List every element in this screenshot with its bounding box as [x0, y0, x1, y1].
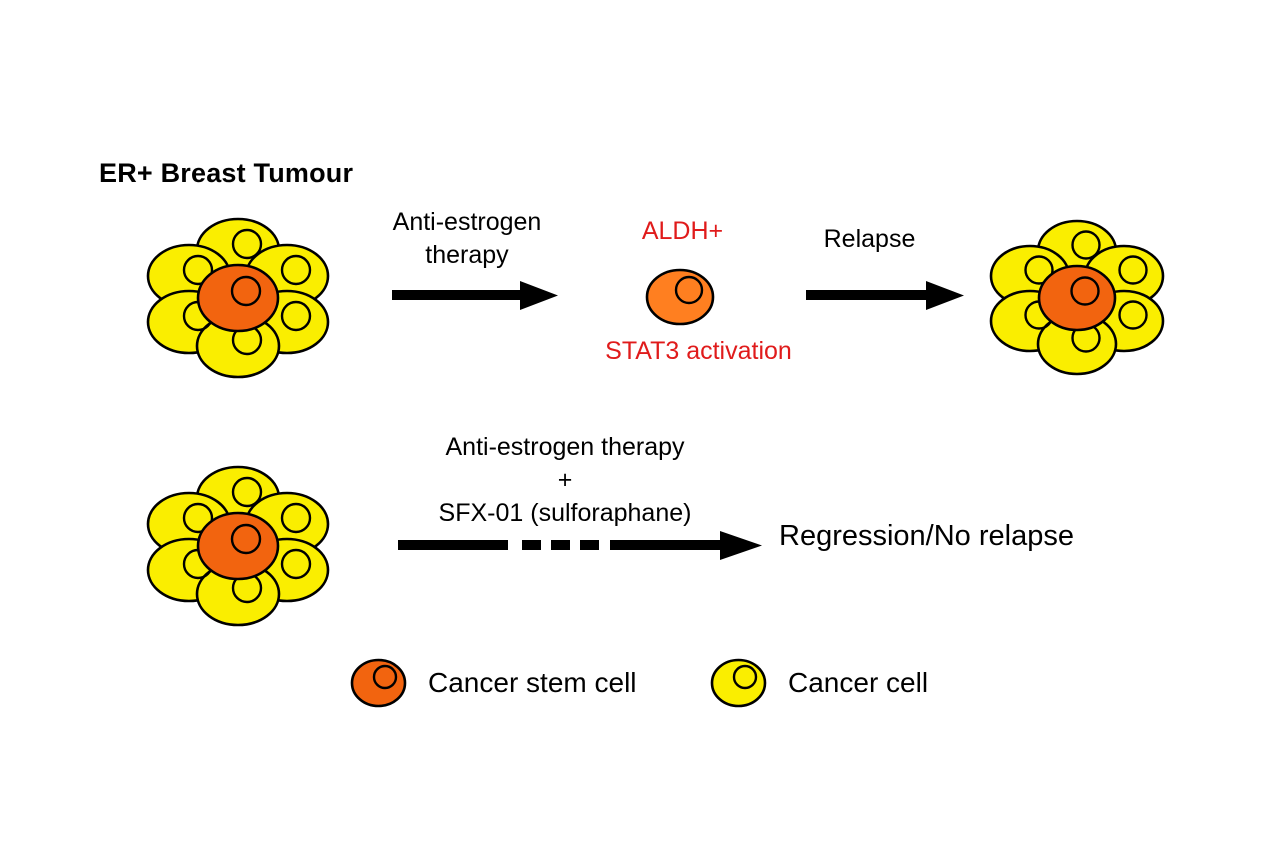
legend-label-cancer-cell: Cancer cell	[788, 667, 928, 699]
legend-item-cancer-stem-cell: Cancer stem cell	[350, 658, 637, 708]
arrow-combination-therapy	[398, 529, 762, 563]
cancer-stem-cell	[198, 513, 278, 579]
treatment-label-bottom-line1: Anti-estrogen therapy	[395, 431, 735, 464]
arrow-relapse	[806, 279, 964, 313]
tumour-cluster-relapsed	[991, 221, 1163, 373]
cancer-stem-cell	[198, 265, 278, 331]
treatment-label-top-line2: therapy	[381, 239, 553, 272]
legend-item-cancer-cell: Cancer cell	[710, 658, 928, 708]
page-title: ER+ Breast Tumour	[99, 158, 353, 189]
figure-canvas: ER+ Breast Tumour	[0, 0, 1280, 857]
legend-label-cancer-stem-cell: Cancer stem cell	[428, 667, 637, 699]
cancer-stem-cell	[647, 270, 713, 324]
tumour-cluster-treated	[148, 466, 328, 624]
legend-swatch-cancer-stem-cell	[350, 658, 407, 708]
pathway-label-stat3: STAT3 activation	[567, 335, 830, 368]
treatment-label-bottom-line3: SFX-01 (sulforaphane)	[395, 497, 735, 530]
treatment-label-top-line1: Anti-estrogen	[381, 206, 553, 239]
aldh-positive-stem-cell	[645, 268, 715, 326]
tumour-cluster-initial	[148, 218, 328, 376]
treatment-label-bottom: Anti-estrogen therapy + SFX-01 (sulforap…	[395, 431, 735, 530]
cancer-stem-cell	[1039, 266, 1115, 330]
arrow-anti-estrogen-therapy	[392, 279, 558, 313]
marker-label-aldh: ALDH+	[570, 215, 795, 248]
legend-swatch-cancer-cell	[710, 658, 767, 708]
outcome-label-relapse: Relapse	[797, 223, 942, 256]
treatment-label-top: Anti-estrogen therapy	[381, 206, 553, 272]
treatment-label-bottom-line2: +	[395, 464, 735, 497]
outcome-label-regression: Regression/No relapse	[779, 520, 1074, 553]
